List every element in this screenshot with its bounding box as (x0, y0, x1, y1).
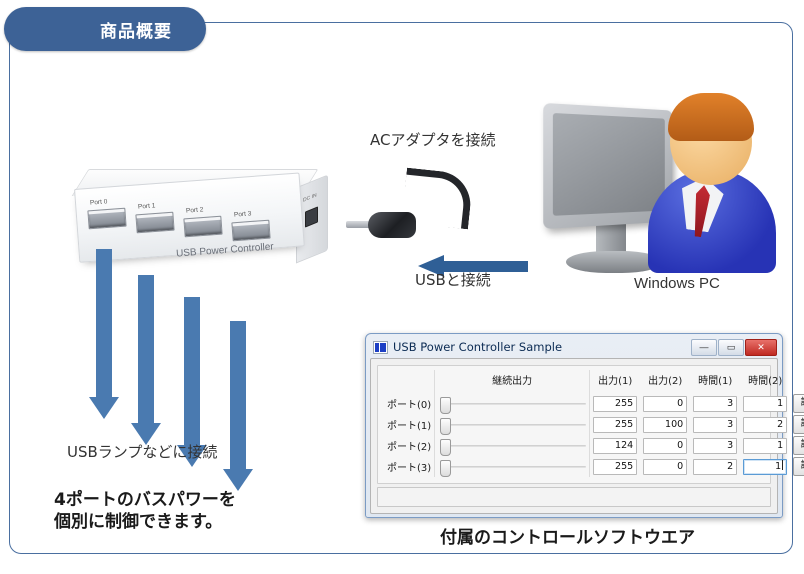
header-output-2: 出力(2) (640, 370, 690, 393)
header-port (384, 370, 435, 393)
continuous-output-slider-2[interactable] (438, 438, 586, 454)
plug-cable (401, 168, 473, 230)
port-label-1: ポート(1) (384, 414, 435, 435)
slider-thumb[interactable] (440, 460, 451, 477)
port-label-2: ポート(2) (384, 435, 435, 456)
output1-field-0[interactable]: 255 (593, 396, 637, 412)
port-0-label: Port 0 (90, 198, 108, 206)
ac-adapter-plug (346, 199, 466, 259)
time1-field-2[interactable]: 3 (693, 438, 737, 454)
port-label-0: ポート(0) (384, 393, 435, 414)
table-body: ポート(0)255031設定ポート(1)25510032設定ポート(2)1240… (384, 393, 804, 477)
output2-field-3[interactable]: 0 (643, 459, 687, 475)
output1-field-1[interactable]: 255 (593, 417, 637, 433)
slider-track (446, 424, 586, 426)
port-2-label: Port 2 (186, 206, 204, 214)
header-action (790, 370, 804, 393)
port-control-table: 継続出力 出力(1) 出力(2) 時間(1) 時間(2) ポート(0)25503… (384, 370, 804, 477)
minimize-button[interactable]: — (691, 339, 717, 356)
person-hair (668, 93, 754, 141)
slider-thumb[interactable] (440, 418, 451, 435)
usb-port-1-icon (135, 212, 174, 234)
status-bar (377, 487, 771, 507)
feature-text-line1: 4ポートのバスパワーを (54, 489, 236, 512)
header-time-2: 時間(2) (740, 370, 790, 393)
time1-field-0[interactable]: 3 (693, 396, 737, 412)
slider-track (446, 466, 586, 468)
down-arrow-2-icon (138, 275, 154, 445)
time2-field-0[interactable]: 1 (743, 396, 787, 412)
time1-field-3[interactable]: 2 (693, 459, 737, 475)
continuous-output-slider-3[interactable] (438, 459, 586, 475)
section-header-tab: 商品概要 (4, 7, 206, 51)
down-arrow-1-icon (96, 249, 112, 419)
window-title: USB Power Controller Sample (393, 340, 691, 354)
usb-port-3-icon (231, 220, 270, 242)
output2-field-1[interactable]: 100 (643, 417, 687, 433)
maximize-button[interactable]: ▭ (718, 339, 744, 356)
continuous-output-slider-0[interactable] (438, 396, 586, 412)
port-control-grid: 継続出力 出力(1) 出力(2) 時間(1) 時間(2) ポート(0)25503… (377, 365, 771, 484)
header-output-1: 出力(1) (590, 370, 641, 393)
software-caption: 付属のコントロールソフトウエア (440, 523, 695, 548)
set-button-1[interactable]: 設定 (793, 415, 804, 434)
set-button-0[interactable]: 設定 (793, 394, 804, 413)
ac-adapter-label: ACアダプタを接続 (370, 129, 495, 150)
usb-connect-label: USBと接続 (415, 269, 491, 290)
slider-track (446, 403, 586, 405)
time2-field-2[interactable]: 1 (743, 438, 787, 454)
window-titlebar[interactable]: USB Power Controller Sample — ▭ ✕ (369, 337, 779, 357)
continuous-output-slider-1[interactable] (438, 417, 586, 433)
slider-thumb[interactable] (440, 397, 451, 414)
port-label-3: ポート(3) (384, 456, 435, 477)
table-row: ポート(3)255021設定 (384, 456, 804, 477)
window-buttons: — ▭ ✕ (691, 339, 777, 356)
windows-pc-illustration: Windows PC (530, 85, 770, 290)
time2-field-1[interactable]: 2 (743, 417, 787, 433)
port-1-label: Port 1 (138, 202, 156, 210)
output2-field-2[interactable]: 0 (643, 438, 687, 454)
down-arrow-4-icon (230, 321, 246, 491)
header-time-1: 時間(1) (690, 370, 740, 393)
text-caret (782, 460, 783, 470)
table-row: ポート(0)255031設定 (384, 393, 804, 414)
close-button[interactable]: ✕ (745, 339, 777, 356)
time1-field-1[interactable]: 3 (693, 417, 737, 433)
set-button-2[interactable]: 設定 (793, 436, 804, 455)
table-header-row: 継続出力 出力(1) 出力(2) 時間(1) 時間(2) (384, 370, 804, 393)
table-row: ポート(1)25510032設定 (384, 414, 804, 435)
table-row: ポート(2)124031設定 (384, 435, 804, 456)
slider-track (446, 445, 586, 447)
page-frame: 商品概要 Port 0 Port 1 Port 2 Port 3 USB Pow… (9, 22, 793, 554)
set-button-3[interactable]: 設定 (793, 457, 804, 476)
app-icon (373, 341, 388, 354)
header-continuous-output: 継続出力 (435, 370, 590, 393)
output1-field-3[interactable]: 255 (593, 459, 637, 475)
usb-lamp-label: USBランプなどに接続 (67, 441, 217, 462)
output1-field-2[interactable]: 124 (593, 438, 637, 454)
usb-port-2-icon (183, 216, 222, 238)
time2-field-3[interactable]: 1 (743, 459, 787, 475)
page-title: 商品概要 (100, 17, 172, 42)
output2-field-0[interactable]: 0 (643, 396, 687, 412)
slider-thumb[interactable] (440, 439, 451, 456)
sample-app-window: USB Power Controller Sample — ▭ ✕ 継続出力 出… (365, 333, 783, 518)
usb-port-0-icon (87, 208, 126, 230)
windows-pc-label: Windows PC (634, 275, 720, 292)
port-3-label: Port 3 (234, 210, 252, 218)
window-client-area: 継続出力 出力(1) 出力(2) 時間(1) 時間(2) ポート(0)25503… (370, 358, 778, 514)
monitor-screen (553, 113, 665, 216)
feature-text-line2: 個別に制御できます。 (54, 511, 222, 534)
